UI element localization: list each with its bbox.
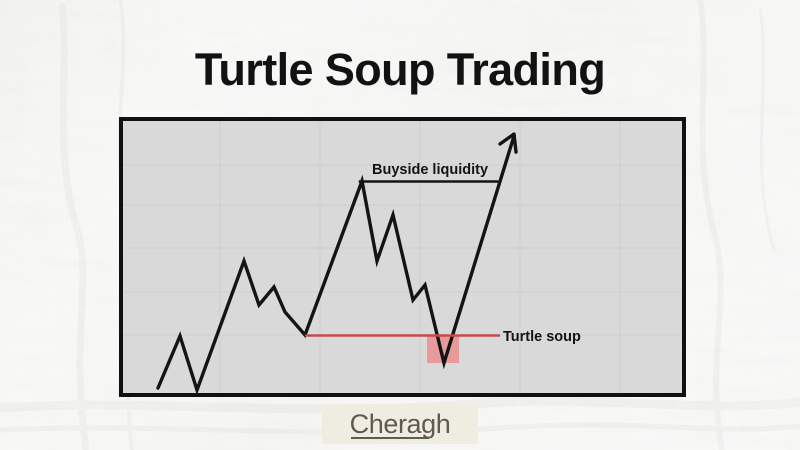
brand-logo-wrap: Cheragh — [350, 408, 451, 440]
slide-canvas: Turtle Soup Trading — [0, 0, 800, 450]
price-chart-panel — [119, 117, 686, 397]
price-chart-svg — [123, 121, 682, 393]
brand-logo-text: Cheragh — [350, 409, 451, 439]
brand-logo-underline — [351, 437, 429, 440]
page-title: Turtle Soup Trading — [0, 44, 800, 96]
uptrend-arrow-icon — [500, 134, 516, 152]
brand-logo-badge[interactable]: Cheragh — [322, 404, 478, 444]
price-line — [158, 136, 514, 390]
